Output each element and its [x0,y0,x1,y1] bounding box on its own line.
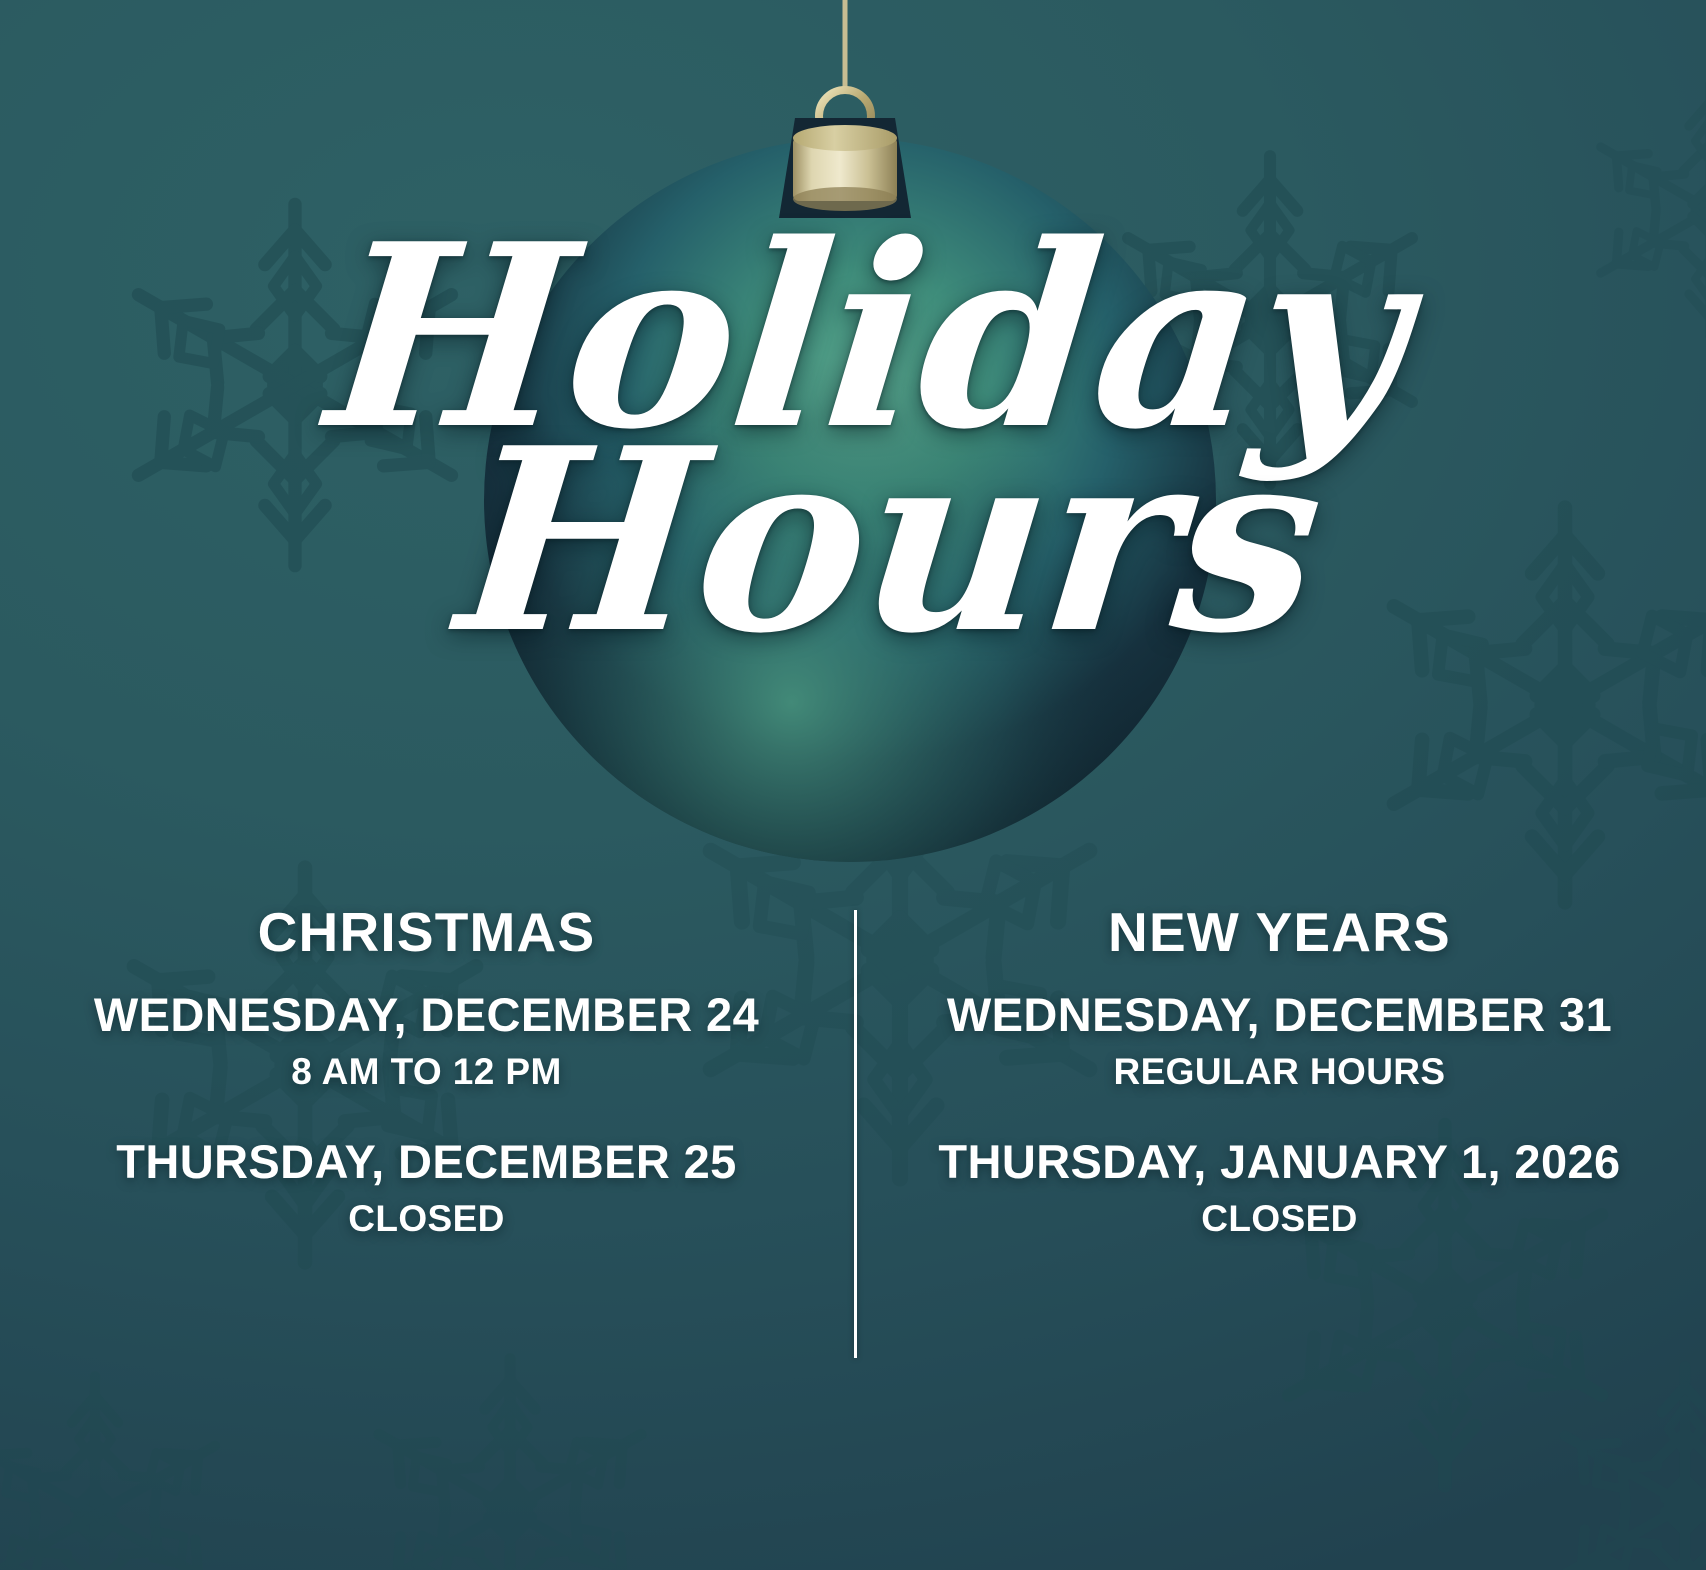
ornament-ring [819,90,871,142]
column-new-years: NEW YEARS WEDNESDAY, DECEMBER 31 REGULAR… [853,900,1706,1240]
hours-columns: CHRISTMAS WEDNESDAY, DECEMBER 24 8 AM TO… [0,900,1706,1240]
event-entry: WEDNESDAY, DECEMBER 31 REGULAR HOURS [893,990,1666,1093]
ornament-ball [484,138,1216,862]
column-divider [854,910,857,1358]
snowflake-icon [1075,125,1465,515]
snowflake-background [0,0,1706,1570]
column-heading: NEW YEARS [893,900,1666,964]
snowflake-icon [80,170,510,600]
event-date: WEDNESDAY, DECEMBER 24 [40,990,813,1041]
poster-title: Holiday Hours [0,222,1706,658]
title-line-2: Hours [0,426,1706,658]
holiday-hours-poster: Holiday Hours CHRISTMAS WEDNESDAY, DECEM… [0,0,1706,1570]
event-date: THURSDAY, JANUARY 1, 2026 [893,1137,1666,1188]
event-entry: THURSDAY, DECEMBER 25 CLOSED [40,1137,813,1240]
snowflake-icon [1330,470,1706,940]
christmas-ornament [0,0,1706,1570]
snowflake-icon [1560,60,1706,360]
column-christmas: CHRISTMAS WEDNESDAY, DECEMBER 24 8 AM TO… [0,900,853,1240]
event-hours: 8 AM TO 12 PM [40,1051,813,1093]
event-hours: REGULAR HOURS [893,1051,1666,1093]
event-date: WEDNESDAY, DECEMBER 31 [893,990,1666,1041]
snowflake-icon [0,1350,260,1570]
ornament-neck [779,118,911,218]
title-line-1: Holiday [0,222,1706,454]
event-hours: CLOSED [40,1198,813,1240]
column-heading: CHRISTMAS [40,900,813,964]
event-entry: WEDNESDAY, DECEMBER 24 8 AM TO 12 PM [40,990,813,1093]
event-date: THURSDAY, DECEMBER 25 [40,1137,813,1188]
ornament-cap [793,125,897,211]
ornament-ball-glow [484,138,1216,862]
event-hours: CLOSED [893,1198,1666,1240]
snowflake-icon [330,1330,690,1570]
snowflake-icon [1520,1340,1706,1570]
event-entry: THURSDAY, JANUARY 1, 2026 CLOSED [893,1137,1666,1240]
